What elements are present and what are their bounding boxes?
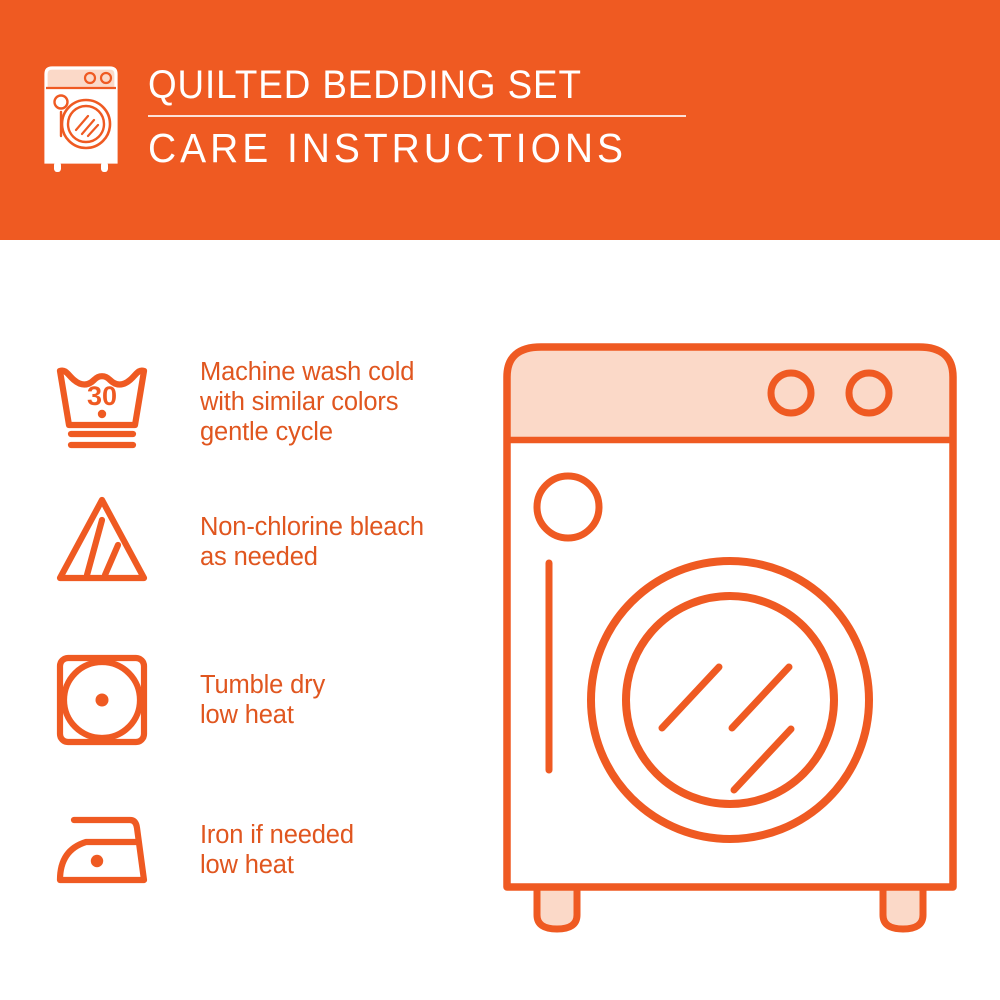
tumble-dry-low-icon [52, 648, 152, 748]
title-divider [148, 115, 686, 117]
washing-machine-logo-icon [38, 66, 130, 174]
header-banner: QUILTED BEDDING SET CARE INSTRUCTIONS [0, 0, 1000, 240]
wash-tub-30-icon: 30 [52, 353, 152, 453]
list-item-label: Machine wash cold with similar colors ge… [200, 357, 414, 447]
list-item-label: Non-chlorine bleach as needed [200, 512, 424, 572]
list-item: Iron if needed low heat [52, 798, 472, 898]
page-title: QUILTED BEDDING SET [148, 62, 643, 108]
washing-machine-illustration [495, 335, 965, 935]
page-subtitle: CARE INSTRUCTIONS [148, 124, 659, 172]
wash-temperature-label: 30 [87, 381, 117, 411]
list-item: Tumble dry low heat [52, 648, 472, 748]
list-item: 30 Machine wash cold with similar colors… [52, 353, 472, 453]
care-instruction-list: 30 Machine wash cold with similar colors… [0, 240, 480, 1000]
list-item: Non-chlorine bleach as needed [52, 490, 472, 590]
header-titles: QUILTED BEDDING SET CARE INSTRUCTIONS [148, 60, 686, 172]
header-content: QUILTED BEDDING SET CARE INSTRUCTIONS [38, 60, 686, 174]
bleach-triangle-icon [52, 490, 152, 590]
iron-low-heat-icon [52, 798, 152, 898]
list-item-label: Iron if needed low heat [200, 820, 354, 880]
list-item-label: Tumble dry low heat [200, 670, 325, 730]
